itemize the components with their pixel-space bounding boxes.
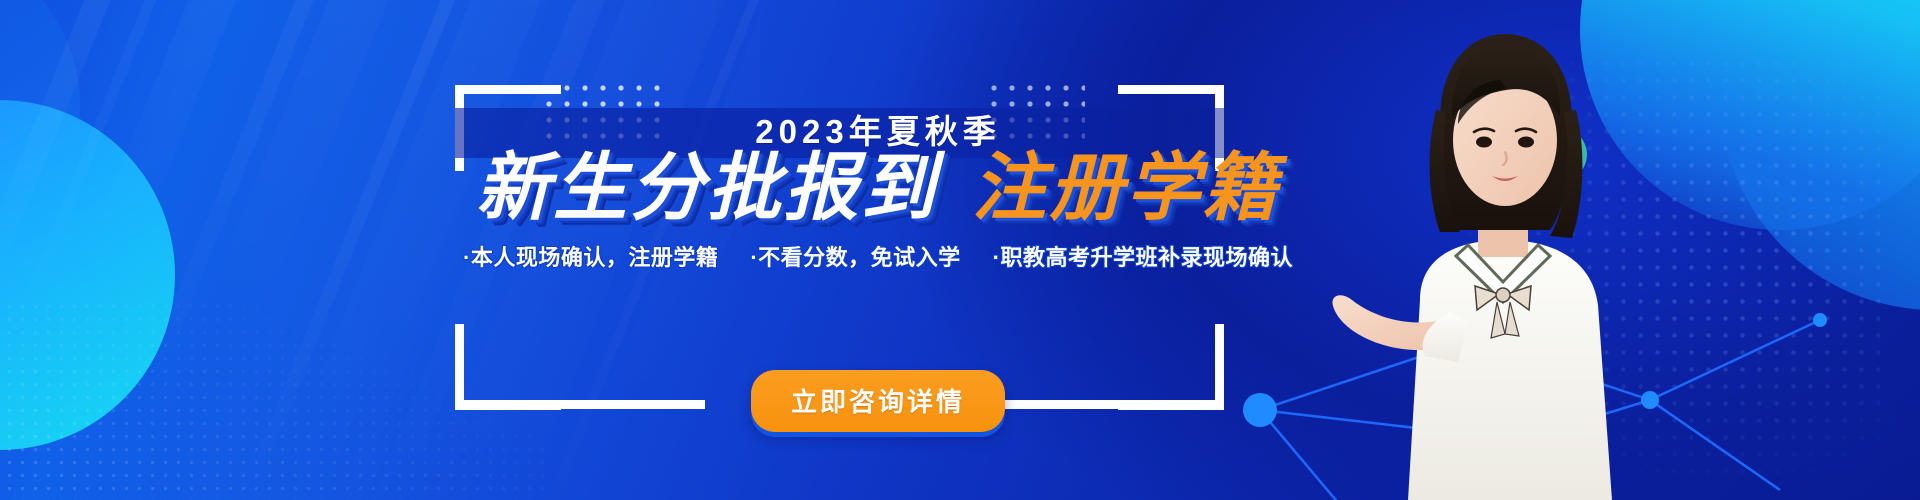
headline-primary: 新生分批报到 — [476, 146, 938, 229]
feature-bullets: ·本人现场确认，注册学籍·不看分数，免试入学·职教高考升学班补录现场确认 — [0, 240, 1838, 272]
cta-container: 立即咨询详情 — [0, 370, 1838, 432]
promo-banner: 2023年夏秋季 新生分批报到注册学籍 ·本人现场确认，注册学籍·不看分数，免试… — [0, 0, 1920, 500]
feature-bullet-3: ·职教高考升学班补录现场确认 — [993, 245, 1293, 270]
feature-bullet-1: ·本人现场确认，注册学籍 — [463, 245, 718, 270]
headline: 新生分批报到注册学籍 — [0, 142, 1838, 234]
consult-now-button[interactable]: 立即咨询详情 — [751, 370, 1005, 432]
headline-accent: 注册学籍 — [972, 146, 1280, 229]
feature-bullet-2: ·不看分数，免试入学 — [750, 245, 960, 270]
